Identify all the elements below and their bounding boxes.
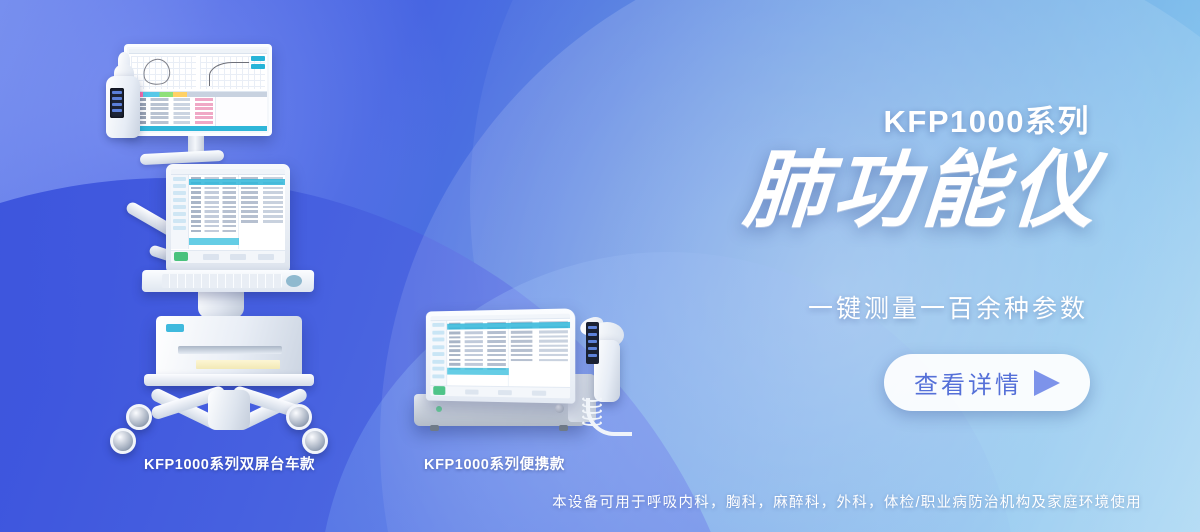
portable-sidebar	[430, 321, 447, 385]
view-details-button[interactable]: 查看详情	[884, 354, 1090, 411]
cart-base-hub	[208, 390, 250, 430]
portable-foot	[559, 425, 568, 431]
power-led-icon	[436, 406, 442, 412]
portable-button	[465, 389, 478, 394]
probe-coiled-cable	[582, 396, 604, 430]
touchscreen-detail-panel	[239, 175, 285, 249]
portable-port-knob	[555, 404, 564, 413]
arrow-right-icon	[1034, 370, 1060, 396]
touchscreen-button-bar	[171, 250, 285, 263]
cart-product-image	[92, 44, 342, 454]
cart-caster	[126, 404, 152, 430]
touchscreen-header-highlight	[189, 179, 285, 185]
touchscreen-button	[258, 254, 274, 260]
portable-button-bar	[430, 385, 570, 398]
printer-badge	[166, 324, 184, 332]
product-banner: KFP1000系列双屏台车款 KFP1000系列便携款 KFP1000系列 肺功…	[0, 0, 1200, 532]
portable-selected-row	[448, 368, 510, 375]
printer-paper	[196, 360, 280, 369]
portable-display	[430, 314, 570, 399]
banner-footnote: 本设备可用于呼吸内科，胸科，麻醉科，外科，体检/职业病防治机构及家庭环境使用	[552, 491, 1142, 512]
cart-touchscreen	[166, 164, 290, 274]
cart-caster	[302, 428, 328, 454]
view-details-label: 查看详情	[914, 365, 1022, 400]
monitor-action-button-2	[251, 64, 265, 69]
portable-button	[532, 390, 546, 395]
handheld-spirometer-probe	[580, 314, 640, 434]
cart-spirometer-handle	[98, 52, 150, 144]
monitor-support-arm	[140, 150, 224, 165]
portable-foot	[430, 425, 439, 431]
portable-screen	[426, 308, 575, 403]
cart-printer	[156, 316, 302, 378]
portable-detail-panel	[509, 319, 570, 387]
portable-start-button	[433, 386, 445, 395]
keyboard-keys	[162, 274, 282, 288]
touchscreen-start-button	[174, 252, 188, 261]
volume-time-curve	[209, 62, 249, 86]
probe-display	[586, 322, 599, 364]
portable-button	[498, 390, 512, 395]
touchscreen-button	[203, 254, 219, 260]
cart-caster	[286, 404, 312, 430]
portable-table	[448, 320, 510, 386]
portable-product-label: KFP1000系列便携款	[424, 453, 565, 474]
product-series-name: KFP1000系列	[884, 96, 1090, 141]
portable-product-image	[408, 310, 638, 445]
cart-keyboard-tray	[142, 270, 314, 292]
banner-subtitle: 一键测量一百余种参数	[808, 289, 1088, 325]
touchscreen-selected-row	[189, 238, 239, 245]
printer-paper-slot	[178, 346, 282, 354]
touchscreen-display	[171, 169, 285, 263]
cart-product-label: KFP1000系列双屏台车款	[144, 453, 315, 474]
page-title: 肺功能仪	[741, 148, 1103, 232]
cart-base-frame	[156, 384, 302, 436]
monitor-action-button-1	[251, 56, 265, 61]
mouse-pad	[286, 275, 302, 287]
spirometer-display	[110, 88, 124, 118]
touchscreen-button	[230, 254, 246, 260]
touchscreen-sidebar	[171, 175, 189, 249]
cart-caster	[110, 428, 136, 454]
